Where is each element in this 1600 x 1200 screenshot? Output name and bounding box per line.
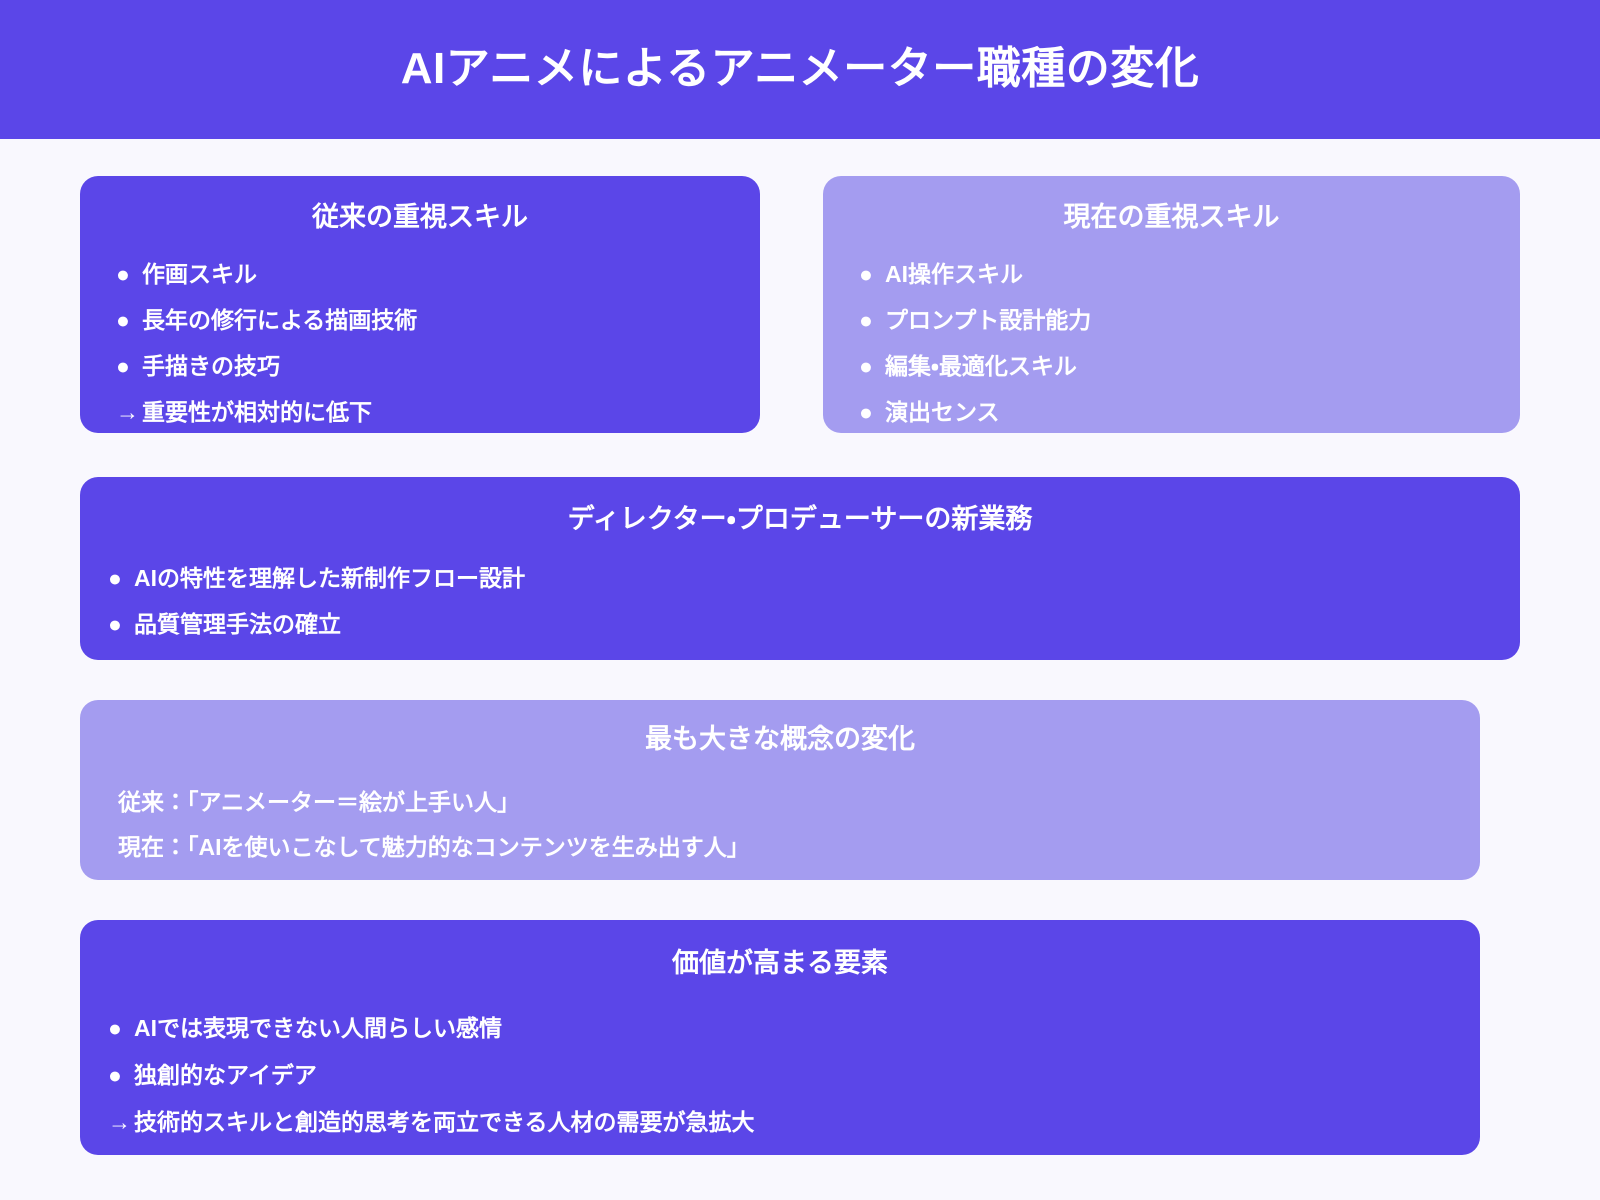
card-director-duties: ディレクター・プロデューサーの新業務 ● AIの特性を理解した新制作フロー設計 … bbox=[80, 477, 1520, 660]
list-item-conclusion: → 重要性が相対的に低下 bbox=[116, 401, 760, 424]
bullet-icon: ● bbox=[859, 401, 885, 424]
definition-row-before: 従来：「アニメーター＝絵が上手い人」 bbox=[118, 791, 1480, 814]
definition-list-concept-shift: 従来：「アニメーター＝絵が上手い人」 現在：「AIを使いこなして魅力的なコンテン… bbox=[80, 791, 1480, 859]
list-item: ● 演出センス bbox=[859, 401, 1520, 424]
bullet-icon: ● bbox=[116, 263, 142, 286]
list-item: ● AI操作スキル bbox=[859, 263, 1520, 286]
list-item-label: 技術的スキルと創造的思考を両立できる人材の需要が急拡大 bbox=[134, 1111, 755, 1134]
definition-value-after: 「AIを使いこなして魅力的なコンテンツを生み出す人」 bbox=[187, 834, 750, 860]
bullet-icon: ● bbox=[116, 309, 142, 332]
list-item-label: プロンプト設計能力 bbox=[885, 309, 1091, 332]
card-current-skills: 現在の重視スキル ● AI操作スキル ● プロンプト設計能力 ● 編集・最適化ス… bbox=[823, 176, 1520, 433]
bullet-icon: ● bbox=[116, 355, 142, 378]
list-item-label: AIでは表現できない人間らしい感情 bbox=[134, 1017, 502, 1040]
bullet-icon: ● bbox=[108, 1017, 134, 1040]
definition-row-after: 現在：「AIを使いこなして魅力的なコンテンツを生み出す人」 bbox=[118, 836, 1480, 859]
page-title: AIアニメによるアニメーター職種の変化 bbox=[401, 43, 1199, 96]
list-item-label: 品質管理手法の確立 bbox=[134, 613, 341, 636]
arrow-right-icon: → bbox=[108, 1111, 134, 1134]
list-item: ● 作画スキル bbox=[116, 263, 760, 286]
list-item: ● プロンプト設計能力 bbox=[859, 309, 1520, 332]
bullet-list-director-duties: ● AIの特性を理解した新制作フロー設計 ● 品質管理手法の確立 bbox=[80, 567, 1520, 636]
card-title-current-skills: 現在の重視スキル bbox=[823, 200, 1520, 235]
list-item-label: 重要性が相対的に低下 bbox=[142, 401, 372, 424]
card-legacy-skills: 従来の重視スキル ● 作画スキル ● 長年の修行による描画技術 ● 手描きの技巧… bbox=[80, 176, 760, 433]
list-item: ● 長年の修行による描画技術 bbox=[116, 309, 760, 332]
list-item: ● 編集・最適化スキル bbox=[859, 355, 1520, 378]
list-item: ● 独創的なアイデア bbox=[108, 1064, 1480, 1087]
list-item: ● 品質管理手法の確立 bbox=[108, 613, 1520, 636]
list-item: ● AIの特性を理解した新制作フロー設計 bbox=[108, 567, 1520, 590]
definition-label-after: 現在： bbox=[118, 834, 187, 860]
bullet-icon: ● bbox=[108, 613, 134, 636]
list-item-label: 長年の修行による描画技術 bbox=[142, 309, 417, 332]
list-item: ● AIでは表現できない人間らしい感情 bbox=[108, 1017, 1480, 1040]
list-item-conclusion: → 技術的スキルと創造的思考を両立できる人材の需要が急拡大 bbox=[108, 1111, 1480, 1134]
infographic-page: AIアニメによるアニメーター職種の変化 従来の重視スキル ● 作画スキル ● 長… bbox=[0, 0, 1600, 1200]
card-title-legacy-skills: 従来の重視スキル bbox=[80, 200, 760, 235]
bullet-list-rising-value: ● AIでは表現できない人間らしい感情 ● 独創的なアイデア → 技術的スキルと… bbox=[80, 1017, 1480, 1134]
arrow-right-icon: → bbox=[116, 401, 142, 424]
list-item-label: 作画スキル bbox=[142, 263, 257, 286]
list-item-label: 演出センス bbox=[885, 401, 1000, 424]
bullet-list-current-skills: ● AI操作スキル ● プロンプト設計能力 ● 編集・最適化スキル ● 演出セン… bbox=[823, 263, 1520, 424]
bullet-icon: ● bbox=[859, 355, 885, 378]
bullet-icon: ● bbox=[108, 567, 134, 590]
card-rising-value: 価値が高まる要素 ● AIでは表現できない人間らしい感情 ● 独創的なアイデア … bbox=[80, 920, 1480, 1155]
card-title-concept-shift: 最も大きな概念の変化 bbox=[80, 722, 1480, 757]
card-title-rising-value: 価値が高まる要素 bbox=[80, 946, 1480, 981]
list-item: ● 手描きの技巧 bbox=[116, 355, 760, 378]
bullet-icon: ● bbox=[859, 263, 885, 286]
definition-label-before: 従来： bbox=[118, 789, 187, 815]
bullet-list-legacy-skills: ● 作画スキル ● 長年の修行による描画技術 ● 手描きの技巧 → 重要性が相対… bbox=[80, 263, 760, 424]
list-item-label: 編集・最適化スキル bbox=[885, 355, 1077, 378]
card-title-director-duties: ディレクター・プロデューサーの新業務 bbox=[80, 502, 1520, 537]
definition-value-before: 「アニメーター＝絵が上手い人」 bbox=[187, 789, 520, 815]
list-item-label: AI操作スキル bbox=[885, 263, 1023, 286]
bullet-icon: ● bbox=[859, 309, 885, 332]
header-banner: AIアニメによるアニメーター職種の変化 bbox=[0, 0, 1600, 139]
card-concept-shift: 最も大きな概念の変化 従来：「アニメーター＝絵が上手い人」 現在：「AIを使いこ… bbox=[80, 700, 1480, 880]
list-item-label: AIの特性を理解した新制作フロー設計 bbox=[134, 567, 525, 590]
list-item-label: 手描きの技巧 bbox=[142, 355, 280, 378]
list-item-label: 独創的なアイデア bbox=[134, 1064, 317, 1087]
bullet-icon: ● bbox=[108, 1064, 134, 1087]
